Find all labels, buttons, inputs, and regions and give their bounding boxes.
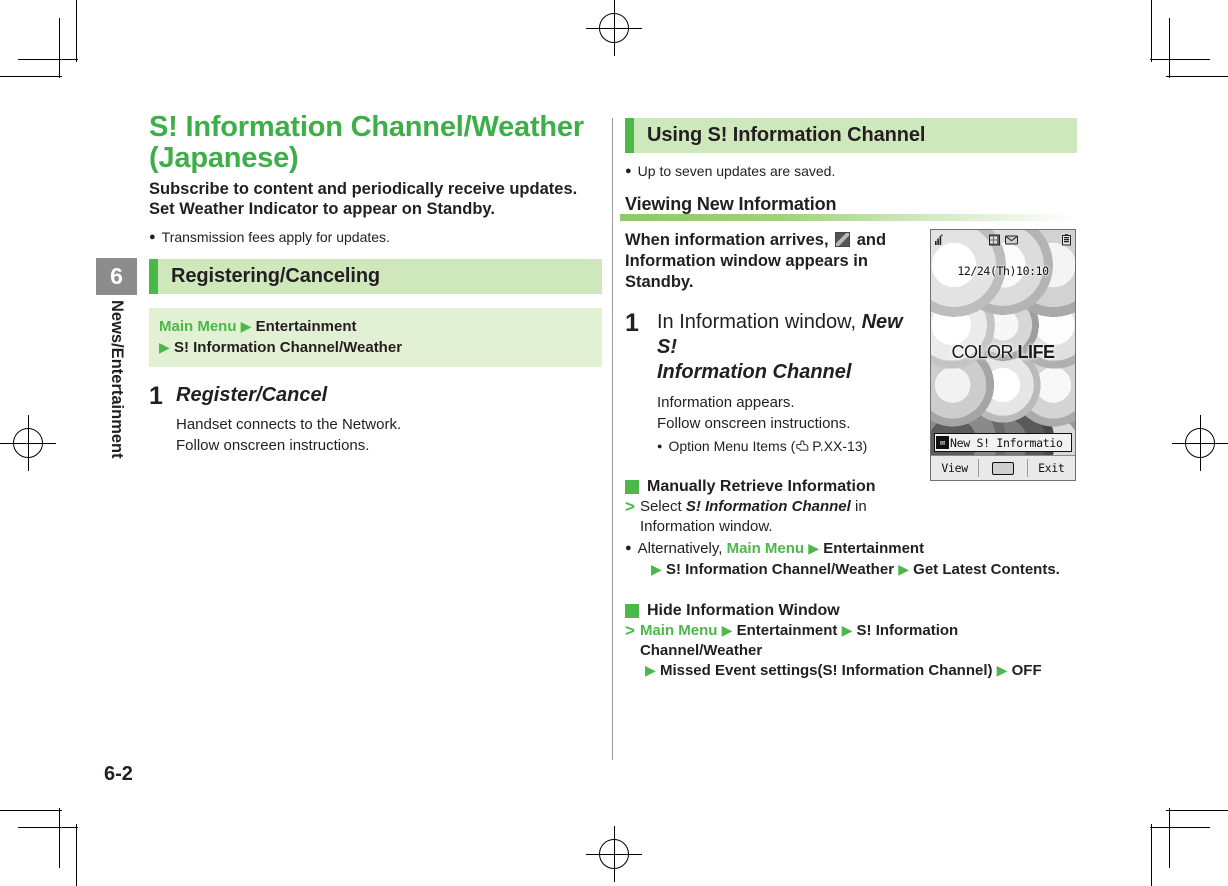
crop-mark-tl-v — [76, 0, 77, 62]
instruction-text: Select S! Information Channel in Informa… — [640, 497, 930, 536]
step-title-emphasis-2: Information Channel — [657, 361, 851, 383]
step-description: Information appears. Follow onscreen ins… — [657, 392, 925, 434]
chapter-name-text: News/Entertainment — [96, 300, 137, 459]
handset-information-window[interactable]: ✉ New S! Informatio — [934, 433, 1072, 452]
handset-softkey-bar: View Exit — [931, 455, 1075, 480]
block-heading-hide-window: Hide Information Window — [625, 602, 1077, 620]
lead-part-1: When information arrives, — [625, 231, 829, 249]
information-window-text: New S! Informatio — [950, 436, 1063, 450]
section-accent-bar — [149, 259, 158, 294]
step-register-cancel: 1 Register/Cancel Handset connects to th… — [149, 383, 602, 456]
chapter-number-tab: 6 — [96, 258, 137, 295]
envelope-icon — [1005, 234, 1018, 246]
option-note-post: ) — [863, 438, 868, 454]
alt-item-1: Entertainment — [823, 540, 924, 557]
option-note: Option Menu Items (P.XX-13) — [668, 437, 867, 455]
arrow-right-icon: ▶ — [842, 622, 853, 638]
registration-mark-right — [1178, 421, 1222, 465]
hide-item-3: Missed Event settings(S! Information Cha… — [660, 662, 993, 679]
hide-main-menu: Main Menu — [640, 622, 718, 639]
softkey-center[interactable] — [979, 462, 1026, 475]
column-divider — [612, 118, 613, 760]
new-mail-badge-icon: ✉ — [936, 436, 949, 449]
note-text: Up to seven updates are saved. — [638, 162, 836, 180]
crop-mark-tl-h2 — [18, 59, 78, 60]
arrow-right-icon: ▶ — [997, 662, 1008, 678]
bullet-dot-icon: ● — [625, 162, 632, 180]
hide-item-1: Entertainment — [737, 622, 838, 639]
logo-bold-part: LIFE — [1018, 342, 1055, 362]
instruction-hide-path-cont: ▶ Missed Event settings(S! Information C… — [625, 660, 1077, 681]
crop-mark-tl-h — [0, 76, 62, 77]
select-pre: Select — [640, 498, 682, 515]
hide-item-4: OFF — [1012, 662, 1042, 679]
step-title-plain: In Information window, — [657, 311, 856, 333]
block-heading-text: Hide Information Window — [647, 602, 840, 620]
chapter-name-label: News/Entertainment — [96, 300, 137, 500]
step-line-2: Follow onscreen instructions. — [657, 415, 850, 432]
page-number: 6-2 — [104, 763, 133, 786]
step-view-information: 1 In Information window, New S! Informat… — [625, 310, 925, 461]
registration-mark-top — [592, 6, 636, 50]
information-arrival-icon — [835, 232, 850, 247]
menu-path-item-1: Entertainment — [256, 318, 357, 335]
crop-mark-tr-v — [1151, 0, 1152, 62]
registration-mark-left — [6, 421, 50, 465]
crop-mark-bl-v2 — [59, 808, 60, 868]
step-title: In Information window, New S! Informatio… — [657, 310, 925, 385]
registration-mark-bottom — [592, 832, 636, 876]
handset-wallpaper-logo: COLOR LIFE — [931, 342, 1075, 363]
instruction-select-channel: > Select S! Information Channel in Infor… — [625, 497, 930, 536]
arrow-right-icon: ▶ — [808, 540, 819, 556]
step-line-1: Handset connects to the Network. — [176, 416, 401, 433]
softkey-left-view[interactable]: View — [931, 461, 978, 475]
alt-pre: Alternatively, — [638, 540, 723, 557]
crop-mark-br-h2 — [1150, 827, 1210, 828]
arrow-right-icon: ▶ — [241, 318, 252, 334]
lead-when-information-arrives: When information arrives, and Informatio… — [625, 230, 925, 293]
hide-path-text: Main Menu ▶ Entertainment ▶ S! Informati… — [640, 621, 1077, 660]
crop-mark-br-h — [1166, 810, 1228, 811]
crop-mark-tr-h2 — [1150, 59, 1210, 60]
arrow-right-icon: ▶ — [898, 561, 909, 577]
menu-path-main-menu: Main Menu — [159, 318, 237, 335]
note-text: Transmission fees apply for updates. — [162, 228, 390, 246]
block-heading-text: Manually Retrieve Information — [647, 478, 876, 496]
pointing-hand-icon — [796, 439, 811, 452]
subheading-underline — [620, 214, 1077, 221]
option-note-pre: Option Menu Items ( — [668, 438, 795, 454]
alt-period: . — [1056, 561, 1060, 578]
step-line-1: Information appears. — [657, 394, 795, 411]
note-option-menu-items: ● Option Menu Items (P.XX-13) — [657, 437, 925, 455]
section-heading-registering: Registering/Canceling — [149, 259, 602, 294]
arrow-right-icon: ▶ — [722, 622, 733, 638]
angle-right-icon: > — [625, 621, 635, 660]
crop-mark-tl-v2 — [59, 18, 60, 78]
angle-right-icon: > — [625, 497, 635, 536]
option-note-ref: P.XX-13 — [812, 438, 862, 454]
step-number: 1 — [149, 383, 176, 456]
arrow-right-icon: ▶ — [159, 339, 170, 355]
instruction-hide-path: > Main Menu ▶ Entertainment ▶ S! Informa… — [625, 621, 1077, 660]
crop-mark-bl-v — [76, 824, 77, 886]
crop-mark-br-v — [1151, 824, 1152, 886]
signal-icon — [934, 234, 945, 246]
menu-path-registering: Main Menu ▶ Entertainment ▶ S! Informati… — [149, 308, 602, 367]
crop-mark-bl-h2 — [18, 827, 78, 828]
bullet-dot-icon: ● — [149, 228, 156, 246]
square-bullet-icon — [625, 604, 639, 618]
note-updates-saved: ● Up to seven updates are saved. — [625, 162, 1077, 180]
handset-screenshot: 12/24(Th)10:10 COLOR LIFE ✉ New S! Infor… — [930, 229, 1076, 481]
menu-path-item-2: S! Information Channel/Weather — [174, 339, 402, 356]
bullet-dot-icon: ● — [657, 437, 662, 455]
manual-page: 6 News/Entertainment 6-2 S! Information … — [0, 0, 1228, 886]
left-column: S! Information Channel/Weather (Japanese… — [149, 112, 602, 456]
instruction-alternative-path-cont: ▶ S! Information Channel/Weather ▶ Get L… — [625, 559, 1077, 580]
alt-text: Alternatively, Main Menu ▶ Entertainment — [638, 538, 924, 559]
section-heading-text: Registering/Canceling — [158, 265, 380, 288]
instruction-alternative-path: ● Alternatively, Main Menu ▶ Entertainme… — [625, 538, 935, 559]
section-heading-text: Using S! Information Channel — [634, 124, 925, 147]
page-lede: Subscribe to content and periodically re… — [149, 180, 602, 219]
crop-mark-br-v2 — [1169, 808, 1170, 868]
mail-icon — [989, 234, 1000, 246]
handset-status-bar — [931, 230, 1075, 249]
subheading-viewing-new-information: Viewing New Information — [625, 194, 1077, 221]
page-title: S! Information Channel/Weather (Japanese… — [149, 112, 602, 174]
handset-clock: 12/24(Th)10:10 — [931, 264, 1075, 278]
alt-item-2: S! Information Channel/Weather — [666, 561, 894, 578]
alt-main-menu: Main Menu — [727, 540, 805, 557]
step-title: Register/Cancel — [176, 383, 602, 408]
alt-item-3: Get Latest Contents — [913, 561, 1056, 578]
note-transmission-fees: ● Transmission fees apply for updates. — [149, 228, 602, 246]
subheading-text: Viewing New Information — [625, 194, 836, 214]
select-target: S! Information Channel — [686, 498, 851, 515]
step-line-2: Follow onscreen instructions. — [176, 437, 369, 454]
arrow-right-icon: ▶ — [651, 561, 662, 577]
logo-light-part: COLOR — [951, 342, 1017, 362]
bullet-dot-icon: ● — [625, 538, 632, 559]
crop-mark-tr-h — [1166, 76, 1228, 77]
battery-icon — [1061, 234, 1072, 246]
section-heading-using: Using S! Information Channel — [625, 118, 1077, 153]
step-number: 1 — [625, 310, 657, 461]
softkey-right-exit[interactable]: Exit — [1028, 461, 1075, 475]
square-bullet-icon — [625, 480, 639, 494]
step-description: Handset connects to the Network. Follow … — [176, 414, 602, 456]
section-accent-bar — [625, 118, 634, 153]
rectangle-key-icon — [992, 462, 1014, 475]
crop-mark-tr-v2 — [1169, 18, 1170, 78]
crop-mark-bl-h — [0, 810, 62, 811]
arrow-right-icon: ▶ — [645, 662, 656, 678]
